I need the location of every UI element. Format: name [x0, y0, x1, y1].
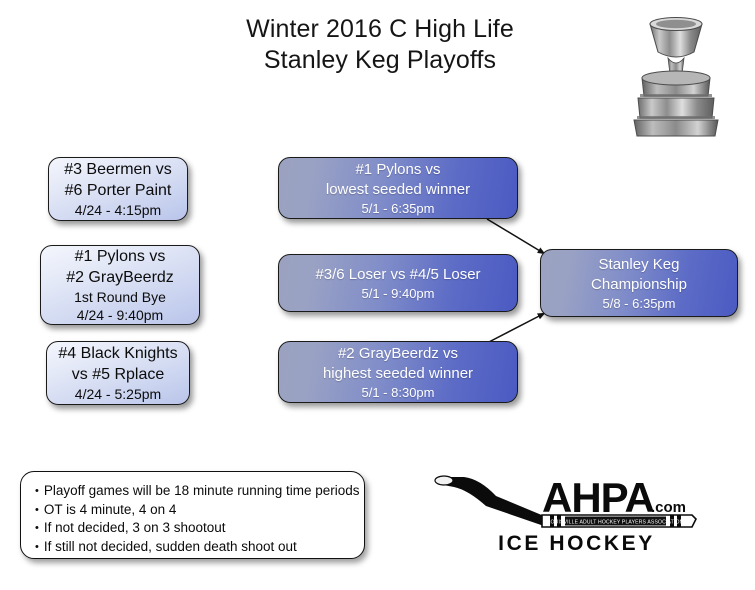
rule-item: If still not decided, sudden death shoot… — [35, 538, 350, 557]
bracket-box-round1-bye[interactable]: #1 Pylons vs #2 GrayBeerdz 1st Round Bye… — [40, 245, 200, 325]
matchup-line-2: lowest seeded winner — [326, 180, 470, 200]
bracket-box-round2-game1[interactable]: #1 Pylons vs lowest seeded winner 5/1 - … — [278, 157, 518, 219]
matchup-line-2: vs #5 Rplace — [72, 364, 165, 385]
matchup-line-1: #3/6 Loser vs #4/5 Loser — [315, 265, 480, 285]
championship-line-1: Stanley Keg — [599, 255, 680, 275]
stanley-keg-trophy-icon — [626, 8, 744, 138]
rule-item: Playoff games will be 18 minute running … — [35, 482, 350, 501]
rules-list: Playoff games will be 18 minute running … — [35, 482, 350, 556]
logo-subtitle: ICE HOCKEY — [424, 532, 729, 556]
matchup-line-1: #2 GrayBeerdz vs — [338, 344, 458, 364]
matchup-line-1: #1 Pylons vs — [75, 246, 166, 267]
matchup-datetime: 4/24 - 4:15pm — [75, 201, 161, 219]
playoff-rules-panel: Playoff games will be 18 minute running … — [20, 471, 365, 559]
rule-item: If not decided, 3 on 3 shootout — [35, 519, 350, 538]
connector-upper-to-final — [487, 219, 545, 254]
bracket-box-championship[interactable]: Stanley Keg Championship 5/8 - 6:35pm — [540, 249, 738, 317]
connector-lower-to-final — [487, 313, 545, 343]
matchup-line-1: #4 Black Knights — [58, 343, 177, 364]
page-title: Winter 2016 C High Life Stanley Keg Play… — [130, 14, 630, 76]
matchup-line-2: highest seeded winner — [323, 364, 473, 384]
matchup-datetime: 4/24 - 9:40pm — [77, 306, 163, 324]
matchup-line-2: #6 Porter Paint — [65, 180, 172, 201]
matchup-line-1: #1 Pylons vs — [355, 160, 440, 180]
ahpa-logo: LOUISVILLE ADULT HOCKEY PLAYERS ASSOCIAT… — [424, 470, 729, 565]
bracket-box-round1-game2[interactable]: #4 Black Knights vs #5 Rplace 4/24 - 5:2… — [46, 341, 190, 405]
hockey-stick-logo-icon: LOUISVILLE ADULT HOCKEY PLAYERS ASSOCIAT… — [424, 470, 729, 538]
bracket-box-round2-game3[interactable]: #2 GrayBeerdz vs highest seeded winner 5… — [278, 341, 518, 403]
matchup-line-1: #3 Beermen vs — [64, 159, 172, 180]
rule-item: OT is 4 minute, 4 on 4 — [35, 501, 350, 520]
championship-line-2: Championship — [591, 275, 687, 295]
bracket-box-round1-game1[interactable]: #3 Beermen vs #6 Porter Paint 4/24 - 4:1… — [48, 157, 188, 221]
matchup-datetime: 5/1 - 6:35pm — [362, 200, 435, 217]
logo-domain: .com — [651, 499, 686, 516]
matchup-datetime: 5/1 - 9:40pm — [362, 285, 435, 302]
matchup-line-2: #2 GrayBeerdz — [66, 267, 174, 288]
matchup-datetime: 5/1 - 8:30pm — [362, 384, 435, 401]
matchup-note: 1st Round Bye — [74, 288, 166, 306]
logo-wordmark: AHPA — [542, 474, 655, 521]
bracket-box-round2-game2[interactable]: #3/6 Loser vs #4/5 Loser 5/1 - 9:40pm — [278, 254, 518, 312]
championship-datetime: 5/8 - 6:35pm — [603, 295, 676, 312]
matchup-datetime: 4/24 - 5:25pm — [75, 385, 161, 403]
